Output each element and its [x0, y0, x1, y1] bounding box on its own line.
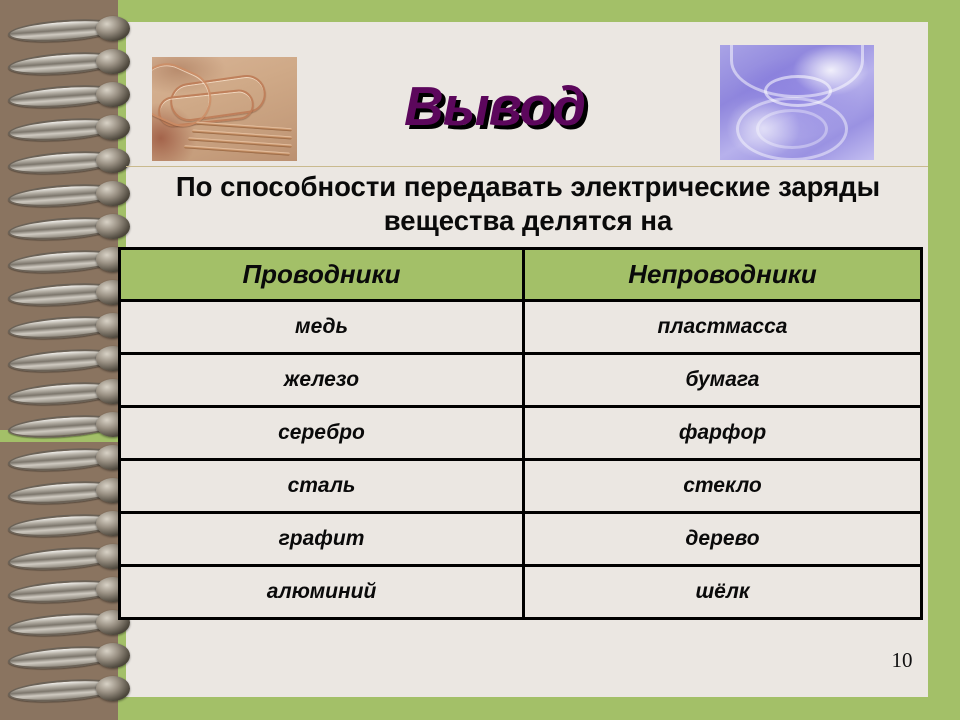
- slide: Вывод По способности передавать электрич…: [0, 0, 960, 720]
- subtitle-text: По способности передавать электрические …: [138, 170, 918, 238]
- conductors-table: Проводники Непроводники медьпластмассаже…: [118, 247, 923, 620]
- glass-photo: [720, 45, 874, 160]
- table-row: медьпластмасса: [120, 301, 922, 354]
- table-cell: серебро: [120, 407, 524, 460]
- title-divider: [126, 166, 928, 167]
- table-cell: железо: [120, 354, 524, 407]
- table-cell: сталь: [120, 460, 524, 513]
- table-cell: пластмасса: [524, 301, 922, 354]
- table-cell: медь: [120, 301, 524, 354]
- column-header-conductors: Проводники: [120, 249, 524, 301]
- table-cell: стекло: [524, 460, 922, 513]
- table-cell: алюминий: [120, 566, 524, 619]
- table-cell: бумага: [524, 354, 922, 407]
- table-row: сереброфарфор: [120, 407, 922, 460]
- table-cell: фарфор: [524, 407, 922, 460]
- column-header-nonconductors: Непроводники: [524, 249, 922, 301]
- table-header-row: Проводники Непроводники: [120, 249, 922, 301]
- notebook-cover-upper: [0, 0, 125, 430]
- page-number: 10: [885, 648, 919, 673]
- table-row: железобумага: [120, 354, 922, 407]
- table-cell: шёлк: [524, 566, 922, 619]
- table-cell: графит: [120, 513, 524, 566]
- notebook-cover-lower: [0, 442, 125, 720]
- table-row: графитдерево: [120, 513, 922, 566]
- table-row: стальстекло: [120, 460, 922, 513]
- table-row: алюминийшёлк: [120, 566, 922, 619]
- notebook-cover-seam: [0, 430, 125, 442]
- copper-wires-photo: [152, 57, 297, 161]
- page-title: Вывод: [404, 74, 585, 138]
- table-cell: дерево: [524, 513, 922, 566]
- conductors-table-wrapper: Проводники Непроводники медьпластмассаже…: [118, 247, 920, 620]
